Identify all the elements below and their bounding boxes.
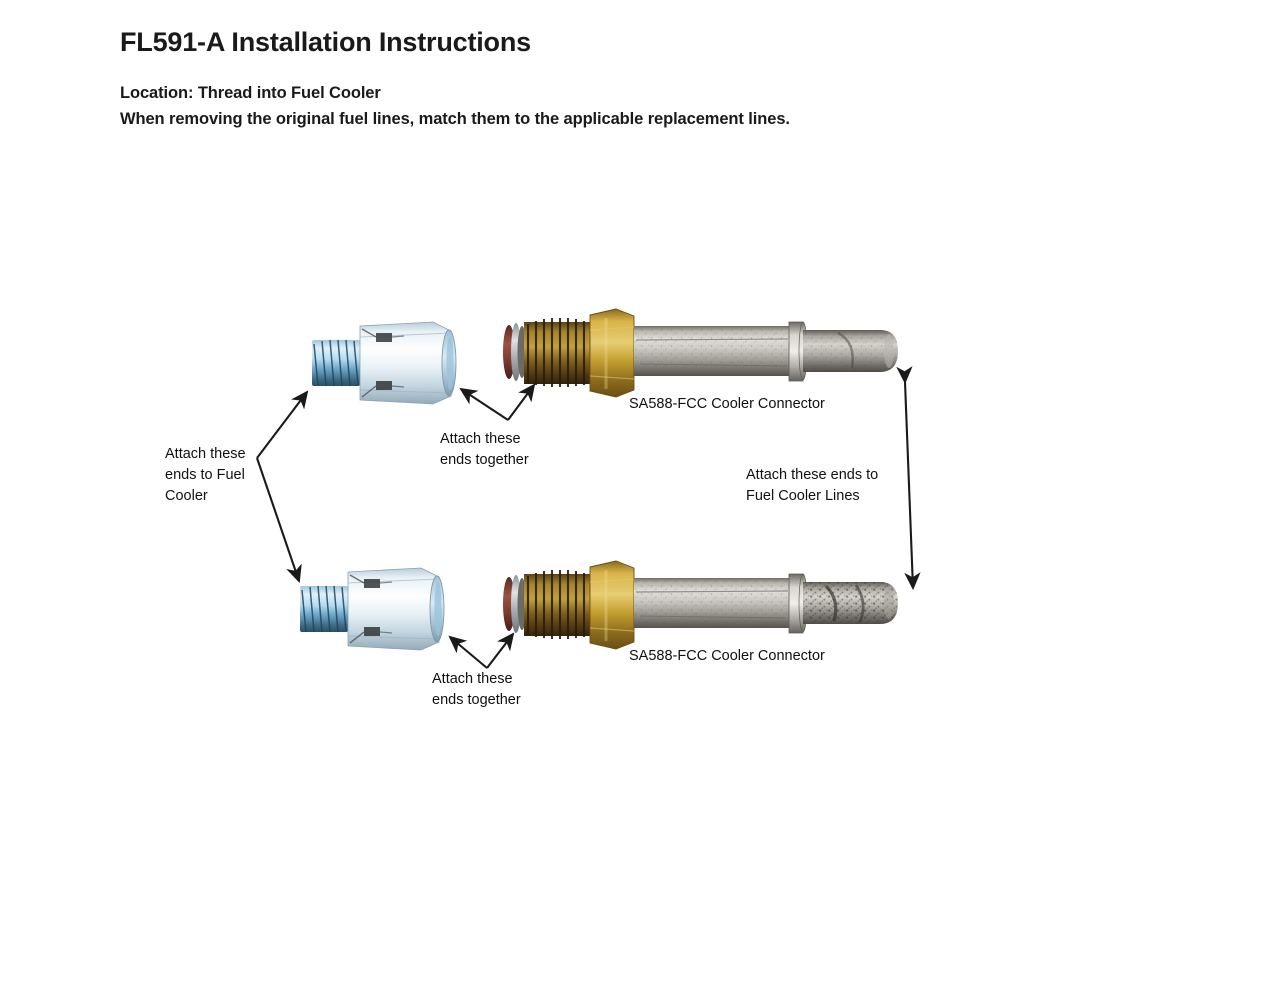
matching-line: When removing the original fuel lines, m…	[120, 110, 790, 129]
connector-thread-ridges	[528, 570, 584, 639]
location-line: Location: Thread into Fuel Cooler	[120, 84, 381, 103]
zinc-adapter-fitting-upper	[312, 322, 456, 404]
part-label-upper: SA588-FCC Cooler Connector	[629, 396, 825, 412]
installation-instructions-page: FL591-A Installation Instructions Locati…	[0, 0, 1280, 989]
annotation-arrows	[257, 382, 913, 668]
brass-cooler-connector-lower	[503, 561, 898, 649]
part-label-lower: SA588-FCC Cooler Connector	[629, 648, 825, 664]
callout-fuel-cooler-ends: Attach these ends to Fuel Cooler	[165, 444, 285, 507]
callout-ends-together-lower: Attach these ends together	[432, 669, 572, 711]
lower-assembly: SA588-FCC Cooler Connector	[300, 561, 898, 664]
callout-ends-together-upper: Attach these ends together	[440, 429, 580, 471]
upper-assembly: SA588-FCC Cooler Connector	[312, 309, 898, 412]
arrow-upper-connector-end	[508, 385, 534, 420]
thread-ridges	[302, 586, 346, 632]
page-title: FL591-A Installation Instructions	[120, 27, 531, 58]
arrow-lower-connector-end	[487, 634, 513, 668]
connector-thread-ridges	[528, 318, 584, 387]
arrow-lower-adapter-end	[450, 637, 487, 668]
zinc-adapter-fitting-lower	[300, 568, 444, 650]
thread-ridges	[314, 340, 358, 386]
brass-cooler-connector-upper	[503, 309, 898, 397]
arrow-upper-adapter-end	[461, 389, 508, 420]
callout-fuel-cooler-lines: Attach these ends to Fuel Cooler Lines	[746, 465, 916, 507]
